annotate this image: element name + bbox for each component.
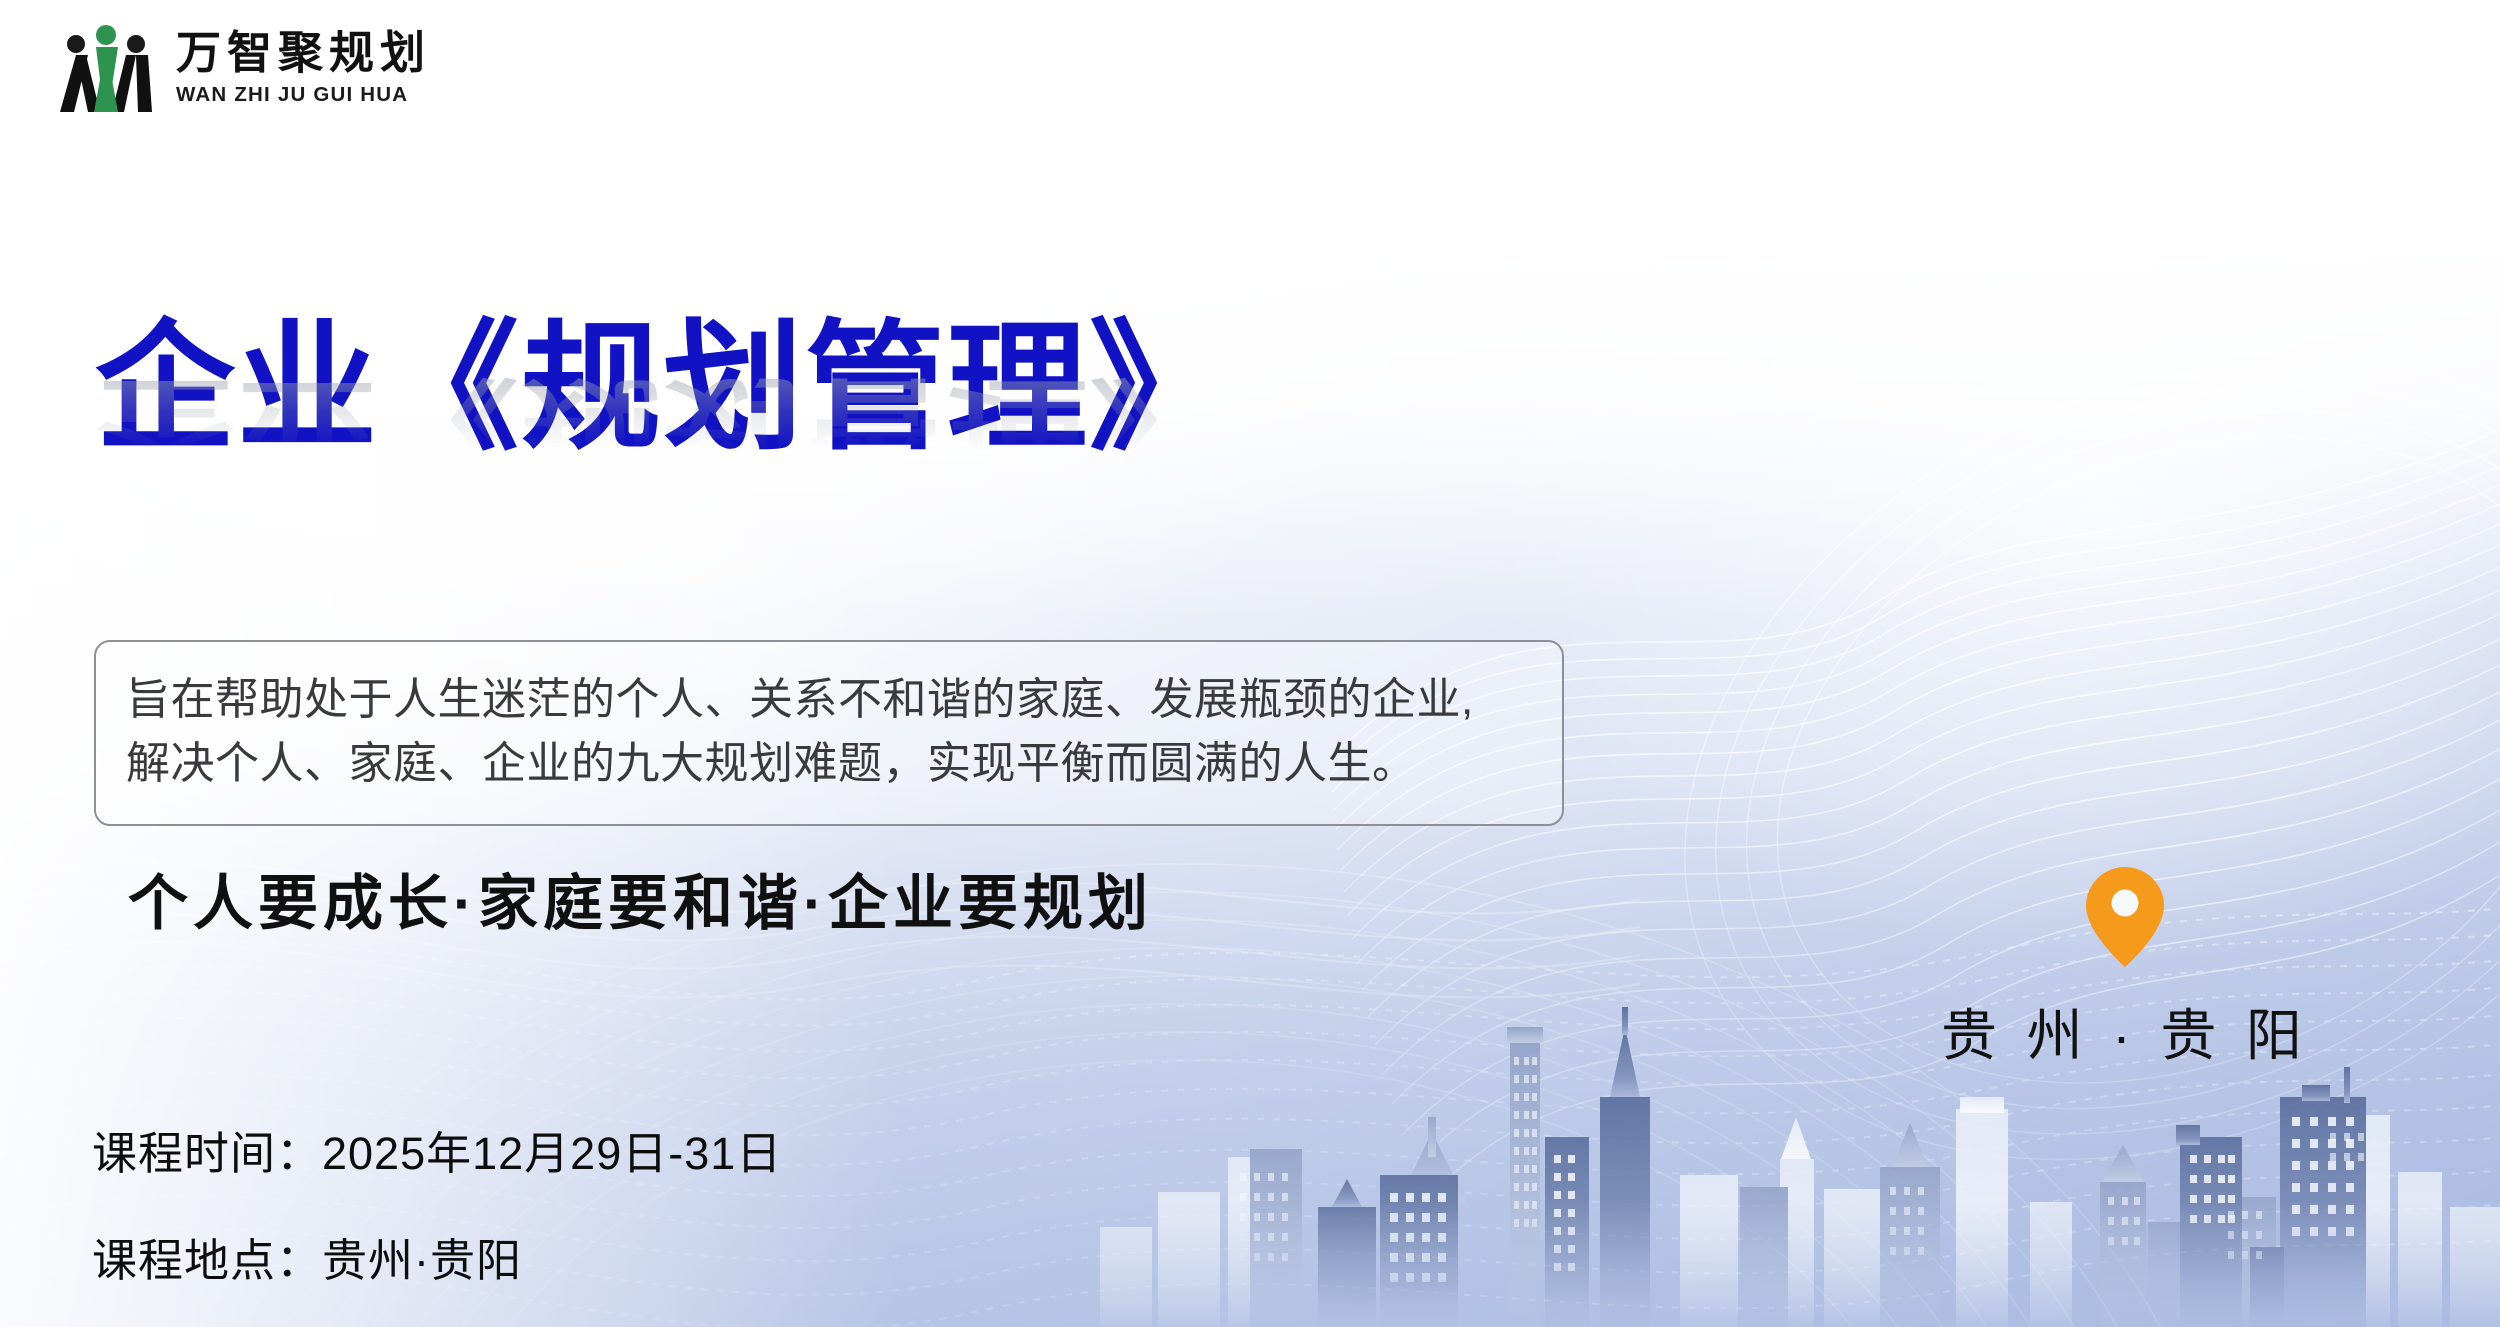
course-place: 课程地点：贵州·贵阳 <box>92 1224 782 1289</box>
brand-name-cn: 万智聚规划 <box>176 31 431 76</box>
map-pin-icon <box>2084 865 2166 969</box>
location-label: 贵 州 · 贵 阳 <box>1935 991 2315 1072</box>
course-info-block: 课程时间：2025年12月29日-31日 课程地点：贵州·贵阳 <box>92 1117 782 1289</box>
brand-name-pinyin: WAN ZHI JU GUI HUA <box>176 85 431 106</box>
hero-title-block: 企业《规划管理》 企业《规划管理》 <box>95 318 1595 600</box>
description-line-2: 解决个人、家庭、企业的九大规划难题，实现平衡而圆满的人生。 <box>126 732 1532 796</box>
brand-logo[interactable]: 万智聚规划 WAN ZHI JU GUI HUA <box>52 22 431 114</box>
page-title-reflection: 企业《规划管理》 <box>95 373 1595 460</box>
course-time: 课程时间：2025年12月29日-31日 <box>92 1117 782 1182</box>
three-people-logo-icon <box>52 22 160 114</box>
tagline: 个人要成长·家庭要和谐·企业要规划 <box>128 855 1153 942</box>
description-box: 旨在帮助处于人生迷茫的个人、关系不和谐的家庭、发展瓶颈的企业, 解决个人、家庭、… <box>94 640 1564 826</box>
brand-logo-text: 万智聚规划 WAN ZHI JU GUI HUA <box>176 31 431 106</box>
location-block: 贵 州 · 贵 阳 <box>1935 865 2315 1072</box>
description-line-1: 旨在帮助处于人生迷茫的个人、关系不和谐的家庭、发展瓶颈的企业, <box>126 668 1532 732</box>
poster-canvas: 万智聚规划 WAN ZHI JU GUI HUA 企业《规划管理》 企业《规划管… <box>0 0 2500 1327</box>
